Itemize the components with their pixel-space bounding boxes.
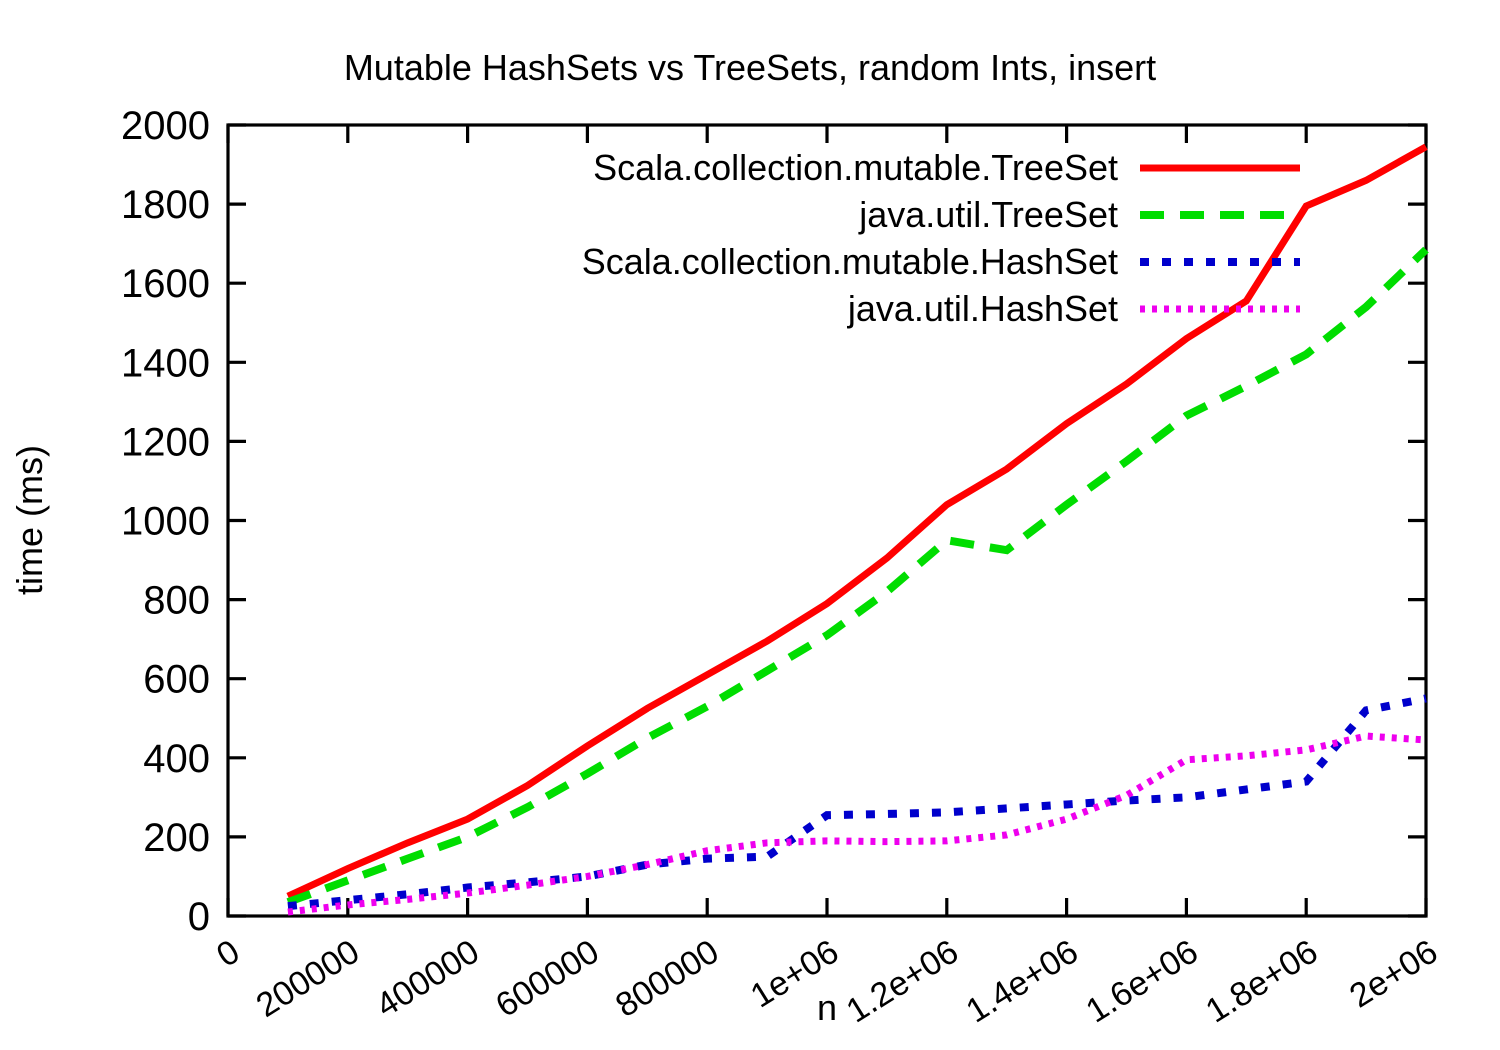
x-tick-label: 400000 (369, 933, 485, 1025)
x-tick-label: 1.6e+06 (1079, 933, 1204, 1031)
y-tick-label: 600 (143, 658, 210, 702)
x-axis-label: n (817, 987, 837, 1028)
chart-title: Mutable HashSets vs TreeSets, random Int… (344, 47, 1156, 88)
y-tick-label: 0 (188, 895, 210, 939)
y-tick-label: 1400 (121, 341, 210, 385)
x-tick-label: 0 (210, 933, 246, 975)
y-axis-label: time (ms) (9, 445, 50, 595)
y-tick-label: 200 (143, 816, 210, 860)
legend-label-3: java.util.HashSet (847, 288, 1118, 329)
x-tick-label: 800000 (609, 933, 725, 1025)
y-tick-label: 1600 (121, 262, 210, 306)
line-chart: Mutable HashSets vs TreeSets, random Int… (0, 0, 1500, 1050)
y-tick-label: 800 (143, 579, 210, 623)
series-line-1 (288, 250, 1426, 903)
x-tick-label: 1.2e+06 (840, 933, 965, 1031)
chart-container: Mutable HashSets vs TreeSets, random Int… (0, 0, 1500, 1050)
legend-label-1: java.util.TreeSet (858, 194, 1118, 235)
y-tick-label: 1000 (121, 500, 210, 544)
legend-label-2: Scala.collection.mutable.HashSet (582, 241, 1118, 282)
x-tick-label: 2e+06 (1343, 933, 1444, 1016)
y-axis-ticks: 0200400600800100012001400160018002000 (121, 104, 1426, 939)
series-line-2 (288, 698, 1426, 906)
legend-label-0: Scala.collection.mutable.TreeSet (593, 147, 1118, 188)
y-tick-label: 1800 (121, 183, 210, 227)
x-tick-label: 200000 (250, 933, 366, 1025)
x-tick-label: 1.8e+06 (1199, 933, 1324, 1031)
y-tick-label: 2000 (121, 104, 210, 148)
chart-legend: Scala.collection.mutable.TreeSetjava.uti… (582, 147, 1300, 329)
x-tick-label: 1.4e+06 (960, 933, 1085, 1031)
x-tick-label: 600000 (489, 933, 605, 1025)
y-tick-label: 400 (143, 737, 210, 781)
y-tick-label: 1200 (121, 420, 210, 464)
